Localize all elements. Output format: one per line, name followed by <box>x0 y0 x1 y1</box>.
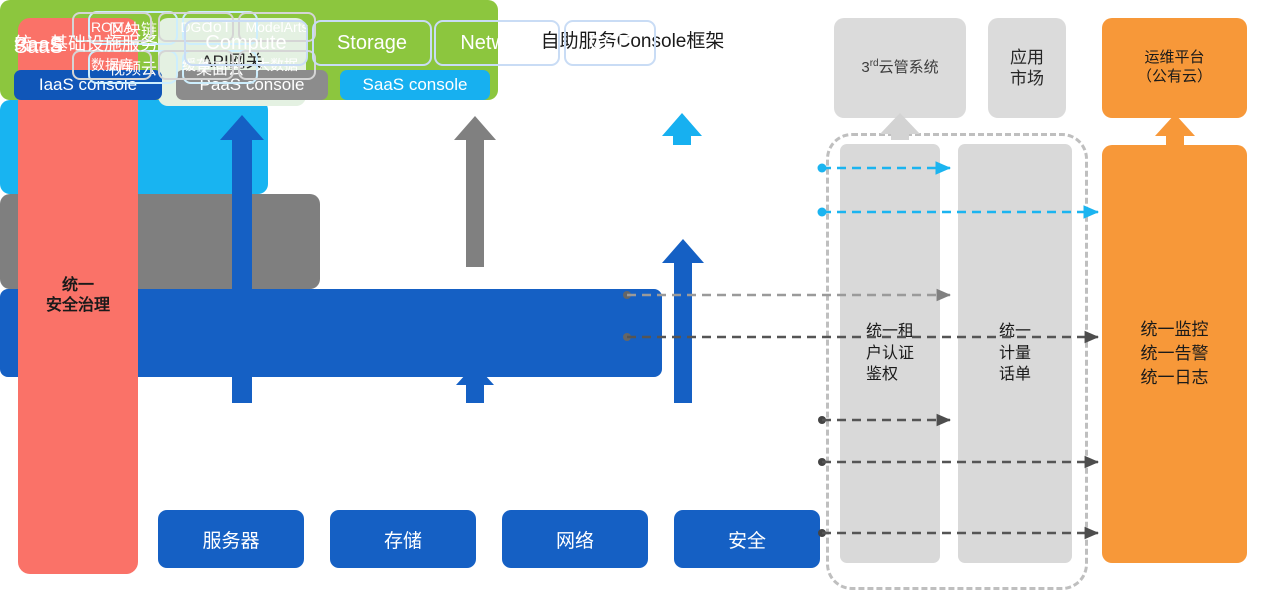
unified-monitoring-label: 统一监控 统一告警 统一日志 <box>1141 318 1209 389</box>
unified-tenant-auth-column: 统一租 户认证 鉴权 <box>840 144 940 563</box>
third-party-cloud-mgmt-label: 3rd云管系统 <box>861 58 938 78</box>
infra-chip-network[interactable]: Network <box>434 20 560 66</box>
unified-monitoring-column: 统一监控 统一告警 统一日志 <box>1102 145 1247 563</box>
third-party-cloud-mgmt-box: 3rd云管系统 <box>834 18 966 118</box>
saas-console-chip[interactable]: SaaS console <box>340 70 490 100</box>
architecture-diagram: 统一 安全治理 API网关 自助服务Console框架 IaaS console… <box>0 0 1265 605</box>
unified-infrastructure-label: 统一基础设施服务 <box>14 30 158 56</box>
paas-chip-database-label: 数据库 <box>91 55 133 75</box>
infra-chip-network-label: Network <box>460 32 533 55</box>
hardware-box-network-label: 网络 <box>556 526 594 553</box>
hardware-box-security-label: 安全 <box>728 526 766 553</box>
hardware-box-server[interactable]: 服务器 <box>158 510 304 568</box>
arrow-ops-column-to-ops-platform <box>1155 114 1195 145</box>
infra-chip-cce[interactable]: CCE <box>564 20 656 66</box>
unified-tenant-auth-label: 统一租 户认证 鉴权 <box>866 321 914 386</box>
infra-chip-storage[interactable]: Storage <box>312 20 432 66</box>
ops-platform-label: 运维平台 （公有云） <box>1137 49 1212 87</box>
infra-chip-storage-label: Storage <box>337 32 407 55</box>
hardware-box-server-label: 服务器 <box>202 526 259 553</box>
hardware-box-storage-label: 存储 <box>384 526 422 553</box>
ops-platform-box: 运维平台 （公有云） <box>1102 18 1247 118</box>
hardware-box-security[interactable]: 安全 <box>674 510 820 568</box>
infra-chip-compute[interactable]: Compute <box>184 20 308 66</box>
arrow-paas-to-console <box>454 116 496 267</box>
arrow-saas-to-console <box>662 113 702 145</box>
hardware-box-storage[interactable]: 存储 <box>330 510 476 568</box>
security-governance-pillar: 统一 安全治理 <box>18 18 138 574</box>
unified-metering-column: 统一 计量 话单 <box>958 144 1072 563</box>
infra-chip-compute-label: Compute <box>205 32 286 55</box>
saas-console-label: SaaS console <box>363 75 468 95</box>
unified-metering-label: 统一 计量 话单 <box>999 321 1031 386</box>
app-market-box: 应用 市场 <box>988 18 1066 118</box>
infra-chip-cce-label: CCE <box>589 32 631 55</box>
app-market-label: 应用 市场 <box>1010 47 1044 90</box>
security-governance-label: 统一 安全治理 <box>46 276 110 316</box>
hardware-box-network[interactable]: 网络 <box>502 510 648 568</box>
arrow-infra-to-saas <box>662 239 704 403</box>
